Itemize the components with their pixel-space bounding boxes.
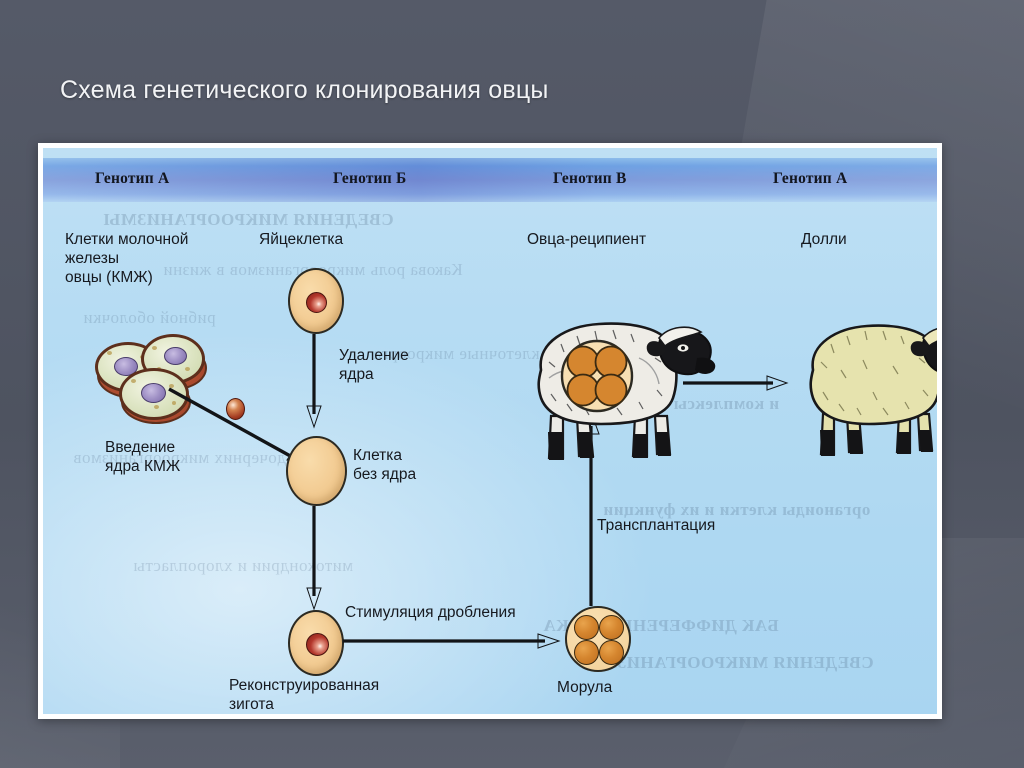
mammary-nucleus-2 xyxy=(164,347,187,365)
diagram-canvas: СВЕДЕНИЯ МИКРООРГАНИЗМЫ Какова роль микр… xyxy=(43,148,937,714)
genotype-label-a-left: Генотип А xyxy=(95,170,169,188)
dolly-sheep-graphic xyxy=(771,300,937,478)
cytoplasm-speck xyxy=(154,405,159,409)
blastomere xyxy=(599,640,624,665)
genotype-label-b: Генотип Б xyxy=(333,170,406,188)
cytoplasm-speck xyxy=(131,379,136,383)
ghost-text: СВЕДЕНИЯ МИКРООРГАНИЗМЫ xyxy=(103,210,394,230)
ghost-text: СВЕДЕНИЯ МИКРООРГАНИЗМЫ xyxy=(583,653,874,673)
genotype-header-band: Генотип А Генотип Б Генотип В Генотип А xyxy=(43,158,937,202)
zygote-formation-arrow xyxy=(301,506,327,612)
cytoplasm-speck xyxy=(107,351,112,355)
cytoplasm-speck xyxy=(152,346,157,350)
label-mammary-cells: Клетки молочной железы овцы (КМЖ) xyxy=(65,230,255,287)
cleavage-stimulation-arrow xyxy=(343,628,565,654)
diagram-figure-frame: СВЕДЕНИЯ МИКРООРГАНИЗМЫ Какова роль микр… xyxy=(38,143,942,719)
label-nucleus-injection: Введение ядра КМЖ xyxy=(105,438,180,476)
blastomere xyxy=(574,615,599,640)
label-cell-without-nucleus: Клетка без ядра xyxy=(353,446,416,484)
label-transplantation: Трансплантация xyxy=(597,516,715,535)
page-title: Схема генетического клонирования овцы xyxy=(60,76,920,105)
nucleus-removal-arrow xyxy=(301,334,327,430)
label-dolly: Долли xyxy=(801,230,847,249)
morula-graphic xyxy=(565,606,631,672)
genotype-label-v: Генотип В xyxy=(553,170,627,188)
label-nucleus-removal: Удаление ядра xyxy=(339,346,409,384)
blastomere xyxy=(574,640,599,665)
reconstructed-zygote-graphic xyxy=(288,610,344,676)
label-cleavage-stimulation: Стимуляция дробления xyxy=(345,603,516,622)
label-reconstructed-zygote: Реконструированная зигота xyxy=(229,676,379,714)
blastomere xyxy=(599,615,624,640)
label-morula: Морула xyxy=(557,678,612,697)
zygote-nucleus-graphic xyxy=(306,633,329,656)
cytoplasm-speck xyxy=(185,367,190,371)
genotype-label-a-right: Генотип А xyxy=(773,170,847,188)
egg-cell-graphic xyxy=(288,268,344,334)
ghost-text: рибной оболочки xyxy=(83,308,216,328)
egg-nucleus-graphic xyxy=(306,292,327,313)
label-egg-cell: Яйцеклетка xyxy=(259,230,343,249)
label-recipient-sheep: Овца-реципиент xyxy=(527,230,646,249)
enucleated-cell-graphic xyxy=(286,436,347,506)
